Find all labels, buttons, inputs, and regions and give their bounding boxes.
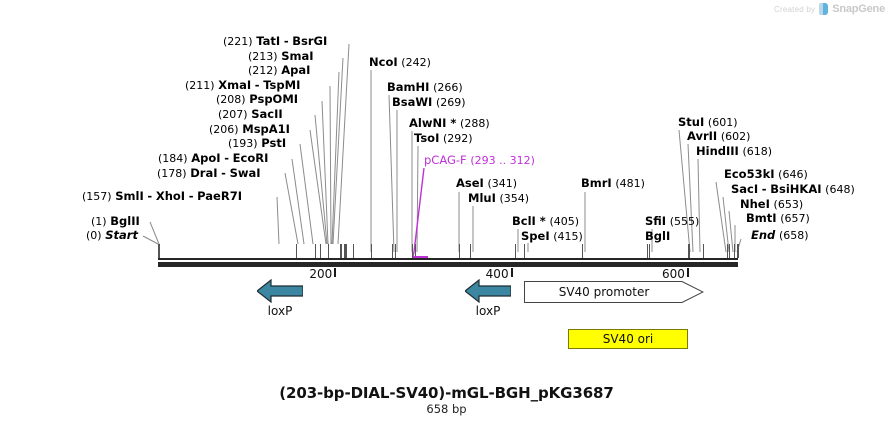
cut-site-tick-sfii[interactable] xyxy=(647,244,648,258)
cut-site-tick-tati[interactable] xyxy=(353,244,354,258)
site-name-tspmi: TspMI xyxy=(263,78,300,92)
site-separator: - xyxy=(255,78,260,92)
watermark-created-by-label: Created by xyxy=(774,5,815,14)
site-label-stui[interactable]: StuI (601) xyxy=(678,116,738,129)
site-separator: - xyxy=(189,189,194,203)
feature-label-loxp-1: loxP xyxy=(247,304,313,318)
site-name-apoi: ApoI xyxy=(191,151,220,165)
cut-site-tick-eco53ki[interactable] xyxy=(727,244,728,258)
site-name-drai: DraI xyxy=(190,166,217,180)
site-name-swai: SwaI xyxy=(230,166,261,180)
site-label-ncoi[interactable]: NcoI (242) xyxy=(369,56,431,69)
cut-site-tick-mspa1i[interactable] xyxy=(340,244,341,258)
cut-site-tick-spei[interactable] xyxy=(524,244,525,258)
site-position-653: (653) xyxy=(774,198,804,211)
site-name-bcli: BclI * xyxy=(512,214,546,228)
site-name-bsawi: BsaWI xyxy=(392,95,432,109)
site-label-apai[interactable]: (212) ApaI xyxy=(248,64,310,77)
site-name-xmai: XmaI xyxy=(218,78,251,92)
site-name-saci: SacI xyxy=(731,182,758,196)
site-label-spei[interactable]: SpeI (415) xyxy=(521,230,583,243)
site-position-1: (1) xyxy=(91,215,107,228)
site-position-646: (646) xyxy=(778,168,808,181)
cut-site-tick-bgli[interactable] xyxy=(649,244,650,258)
site-name-tati: TatI xyxy=(256,34,280,48)
site-name-smli: SmlI xyxy=(115,189,144,203)
cut-site-tick-bglii[interactable] xyxy=(159,244,160,258)
cut-site-tick-bmri[interactable] xyxy=(582,244,583,258)
site-separator: - xyxy=(221,166,226,180)
feature-sv40-ori[interactable]: SV40 ori xyxy=(568,329,688,349)
site-label-xmai-tspmi[interactable]: (211) XmaI - TspMI xyxy=(185,79,300,92)
snapgene-watermark: Created by SnapGene xyxy=(774,3,885,15)
site-name-start: Start xyxy=(105,228,138,242)
site-name-bamhi: BamHI xyxy=(387,80,429,94)
site-label-start[interactable]: (0) Start xyxy=(86,229,138,242)
site-position-213: (213) xyxy=(248,50,278,63)
site-name-bglii: BglII xyxy=(110,214,140,228)
site-label-psti[interactable]: (193) PstI xyxy=(228,137,286,150)
cut-site-tick-xmai[interactable] xyxy=(344,244,345,258)
cut-site-tick-apai[interactable] xyxy=(345,244,346,258)
site-name-tsoi: TsoI xyxy=(414,131,439,145)
site-label-hindiii[interactable]: HindIII (618) xyxy=(696,145,772,158)
cut-site-tick-smai[interactable] xyxy=(346,244,347,258)
site-position-292: (292) xyxy=(443,132,473,145)
site-position-178: (178) xyxy=(157,167,187,180)
page-subtitle: 658 bp xyxy=(0,402,893,416)
site-position-601: (601) xyxy=(708,116,738,129)
site-name-bsrgi: BsrGI xyxy=(292,34,327,48)
cut-site-tick-mlui[interactable] xyxy=(470,244,471,258)
site-name-xhoi: XhoI xyxy=(156,189,185,203)
site-name-ecori: EcoRI xyxy=(233,151,269,165)
feature-label-sv40-promoter: SV40 promoter xyxy=(524,285,684,299)
cut-site-tick-drai[interactable] xyxy=(315,244,316,258)
cut-site-tick-end[interactable] xyxy=(738,244,739,258)
site-position-658: (658) xyxy=(779,229,809,242)
site-separator: - xyxy=(762,182,767,196)
site-label-drai-swai[interactable]: (178) DraI - SwaI xyxy=(157,167,261,180)
site-label-sacii[interactable]: (207) SacII xyxy=(218,108,283,121)
site-name-psti: PstI xyxy=(261,136,286,150)
site-name-apai: ApaI xyxy=(281,63,310,77)
primer-range: (293 .. 312) xyxy=(470,154,535,167)
site-position-242: (242) xyxy=(401,56,431,69)
site-name-eco53ki: Eco53kI xyxy=(724,167,775,181)
site-position-206: (206) xyxy=(209,123,239,136)
site-label-mspa1i[interactable]: (206) MspA1I xyxy=(209,123,290,136)
site-position-193: (193) xyxy=(228,137,258,150)
site-position-648: (648) xyxy=(825,183,855,196)
cut-site-tick-bamhi[interactable] xyxy=(392,244,393,258)
site-label-alwni[interactable]: AlwNI * (288) xyxy=(409,117,490,130)
snapgene-logo-icon xyxy=(819,3,828,15)
site-label-saci-bsihkai[interactable]: SacI - BsiHKAI (648) xyxy=(731,183,855,196)
site-position-157: (157) xyxy=(82,190,112,203)
site-label-smli-xhoi-paer7i[interactable]: (157) SmlI - XhoI - PaeR7I xyxy=(82,190,242,203)
site-name-smai: SmaI xyxy=(281,49,313,63)
site-position-207: (207) xyxy=(218,108,248,121)
site-position-618: (618) xyxy=(742,145,772,158)
site-name-avrii: AvrII xyxy=(687,129,717,143)
site-label-bcli[interactable]: BclI * (405) xyxy=(512,215,579,228)
site-label-tati-bsrgi[interactable]: (221) TatI - BsrGI xyxy=(223,35,327,48)
site-name-paer7i: PaeR7I xyxy=(197,189,242,203)
cut-site-tick-nhei[interactable] xyxy=(734,244,735,258)
site-name-bgli: BglI xyxy=(645,229,670,243)
feature-loxp-1[interactable] xyxy=(257,279,303,307)
site-name-pspomi: PspOMI xyxy=(249,92,298,106)
cut-site-tick-ncoi[interactable] xyxy=(371,244,372,258)
feature-label-loxp-2: loxP xyxy=(455,304,521,318)
ruler-tick-400 xyxy=(511,268,513,277)
site-position-211: (211) xyxy=(185,79,215,92)
cut-site-tick-smli[interactable] xyxy=(296,244,297,258)
site-position-341: (341) xyxy=(487,177,517,190)
site-name-alwni: AlwNI * xyxy=(409,116,456,130)
site-label-bmri[interactable]: BmrI (481) xyxy=(581,177,645,190)
site-name-ncoi: NcoI xyxy=(369,55,398,69)
site-name-nhei: NheI xyxy=(740,197,770,211)
site-name-bmti: BmtI xyxy=(746,211,777,225)
site-name-bsihkai: BsiHKAI xyxy=(770,182,821,196)
site-position-212: (212) xyxy=(248,64,278,77)
cut-site-tick-start[interactable] xyxy=(158,244,159,258)
plasmid-map-canvas: Created by SnapGene xyxy=(0,0,893,424)
site-position-269: (269) xyxy=(436,96,466,109)
site-label-eco53ki[interactable]: Eco53kI (646) xyxy=(724,168,808,181)
site-name-mlui: MluI xyxy=(468,191,496,205)
site-label-smai[interactable]: (213) SmaI xyxy=(248,50,314,63)
cut-site-tick-bsawi[interactable] xyxy=(395,244,396,258)
site-separator: - xyxy=(224,151,229,165)
watermark-brand-label: SnapGene xyxy=(832,3,885,15)
site-name-spei: SpeI xyxy=(521,229,550,243)
cut-site-tick-avrii[interactable] xyxy=(689,244,690,258)
site-label-asei[interactable]: AseI (341) xyxy=(456,177,517,190)
site-name-asei: AseI xyxy=(456,176,484,190)
site-separator: - xyxy=(284,34,289,48)
site-position-221: (221) xyxy=(223,35,253,48)
site-name-end: End xyxy=(751,228,775,242)
site-position-555: (555) xyxy=(670,215,700,228)
site-label-bsawi[interactable]: BsaWI (269) xyxy=(392,96,466,109)
site-separator: - xyxy=(147,189,152,203)
site-label-sfii[interactable]: SfiI (555) xyxy=(645,215,699,228)
site-label-bglii[interactable]: (1) BglII xyxy=(91,215,140,228)
ruler-tick-600 xyxy=(687,268,689,277)
ruler-tick-200 xyxy=(334,268,336,277)
cut-site-tick-asei[interactable] xyxy=(459,244,460,258)
site-position-266: (266) xyxy=(433,81,463,94)
site-position-415: (415) xyxy=(553,230,583,243)
site-position-405: (405) xyxy=(549,215,579,228)
site-name-stui: StuI xyxy=(678,115,704,129)
site-position-208: (208) xyxy=(216,93,246,106)
site-label-avrii[interactable]: AvrII (602) xyxy=(687,130,750,143)
site-position-288: (288) xyxy=(460,117,490,130)
site-label-apoi-ecori[interactable]: (184) ApoI - EcoRI xyxy=(158,152,268,165)
primer-label-pcag-f[interactable]: pCAG-F (293 .. 312) xyxy=(424,154,535,167)
site-position-184: (184) xyxy=(158,152,188,165)
site-position-0: (0) xyxy=(86,229,102,242)
site-position-657: (657) xyxy=(780,212,810,225)
site-label-mlui[interactable]: MluI (354) xyxy=(468,192,529,205)
site-label-end[interactable]: End (658) xyxy=(751,229,809,242)
site-name-sfii: SfiI xyxy=(645,214,666,228)
primer-name: pCAG-F xyxy=(424,153,467,167)
site-position-354: (354) xyxy=(500,192,530,205)
site-label-tsoi[interactable]: TsoI (292) xyxy=(414,132,473,145)
cut-site-tick-saci[interactable] xyxy=(729,244,730,258)
site-name-bmri: BmrI xyxy=(581,176,612,190)
ruler-label-600: 600 xyxy=(633,267,685,281)
site-position-481: (481) xyxy=(615,177,645,190)
cut-site-tick-pspomi[interactable] xyxy=(341,244,342,258)
site-label-pspomi[interactable]: (208) PspOMI xyxy=(216,93,298,106)
cut-site-tick-bcli[interactable] xyxy=(515,244,516,258)
sequence-line-top xyxy=(158,258,738,260)
site-label-bmti[interactable]: BmtI (657) xyxy=(746,212,810,225)
site-label-bgli[interactable]: BglI xyxy=(645,230,670,242)
site-name-sacii: SacII xyxy=(251,107,282,121)
cut-site-tick-hindiii[interactable] xyxy=(703,244,704,258)
site-name-hindiii: HindIII xyxy=(696,144,739,158)
cut-site-tick-psti[interactable] xyxy=(328,244,329,258)
site-position-602: (602) xyxy=(721,130,751,143)
cut-site-tick-apoi[interactable] xyxy=(320,244,321,258)
site-label-nhei[interactable]: NheI (653) xyxy=(740,198,803,211)
site-name-mspa1i: MspA1I xyxy=(242,122,290,136)
page-title: (203-bp-DIAL-SV40)-mGL-BGH_pKG3687 xyxy=(0,384,893,402)
site-label-bamhi[interactable]: BamHI (266) xyxy=(387,81,463,94)
feature-loxp-2[interactable] xyxy=(465,279,511,307)
